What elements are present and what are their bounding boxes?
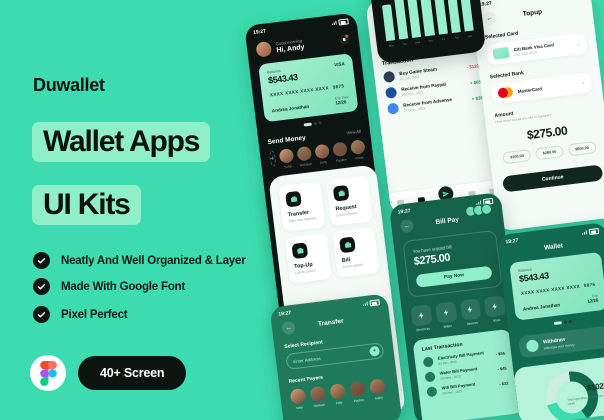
signal-icon: [363, 302, 368, 307]
avatar: [332, 141, 348, 157]
bill-category-label: Water: [438, 323, 458, 329]
screen-count-badge: 40+ Screen: [78, 356, 186, 390]
signal-icon: [331, 21, 336, 26]
card-footer: Andrea Jonathan Exp 12/26: [522, 294, 599, 312]
bill-amount: - $32: [499, 380, 509, 386]
request-icon: [333, 185, 350, 202]
card-last4: 9875: [332, 83, 344, 89]
chart-x-label: Wed: [413, 41, 422, 45]
bill-category-more[interactable]: More: [484, 295, 507, 323]
poster-canvas: MonTueWedThuFriSatSun 19:27 Good morning…: [0, 0, 604, 420]
bill-category-label: More: [487, 317, 507, 323]
dot: [564, 321, 567, 324]
chart-x-label: Sat: [452, 36, 461, 40]
mastercard-icon: [497, 87, 513, 99]
contact-item[interactable]: Sofia: [279, 148, 295, 170]
quick-amount-chip[interactable]: $100.00: [503, 149, 532, 164]
water-drop-icon: [435, 301, 457, 323]
exp-value: 12/26: [587, 298, 599, 304]
contact-name: Kelly: [316, 160, 330, 166]
bank-name: MasterCard: [517, 86, 542, 94]
battery-icon: [369, 299, 380, 306]
chevron-down-icon[interactable]: ⌄: [581, 80, 586, 86]
contact-name: Nicklash: [312, 402, 327, 408]
battery-icon: [338, 18, 349, 25]
pay-now-button[interactable]: Pay Now: [416, 266, 493, 288]
chart-bar: Sat: [447, 0, 460, 33]
dot-active: [554, 321, 562, 325]
contact-name: Kelly: [331, 400, 346, 406]
avatar: [297, 146, 313, 162]
bill-category-internet[interactable]: Internet: [460, 298, 483, 326]
card-number: XXXX XXXX XXXX XXXX 9875: [521, 282, 597, 296]
contact-name: Andre: [371, 395, 386, 401]
chart-bar: Thu: [419, 0, 434, 36]
screen-count-label: 40+ Screen: [100, 366, 164, 380]
contact-item[interactable]: Andre: [350, 139, 366, 161]
chart-x-label: Sun: [465, 34, 474, 38]
bill-icon: [339, 236, 356, 253]
phone-transfer-screen: 19:27 ← Transfer Select Recipient Enter …: [270, 293, 403, 420]
contact-name: Nicklash: [299, 162, 313, 168]
withdraw-icon: [526, 339, 539, 352]
chart-bar: Tue: [394, 0, 409, 40]
avatar: [314, 144, 330, 160]
check-icon: [33, 252, 50, 269]
bolt-icon: [410, 304, 432, 326]
avatar: [349, 381, 366, 398]
feature-label: Pixel Perfect: [61, 309, 127, 321]
water-drop-icon: [424, 371, 435, 382]
bill-amount: - $56: [495, 350, 505, 356]
topup-icon: [291, 242, 308, 259]
headline-primary-text: Wallet Apps: [43, 127, 199, 157]
avatar: [369, 378, 386, 395]
card-number: XXXX XXXX XXXX XXXX 9875: [270, 83, 348, 97]
avatar: [310, 386, 327, 403]
action-card-top-up[interactable]: Top-UpLorem ipsum: [285, 233, 332, 284]
feature-item: Neatly And Well Organized & Layer: [33, 252, 245, 269]
contact-name: Sofia: [292, 405, 307, 411]
wifi-icon: [460, 298, 482, 320]
avatar: [329, 383, 346, 400]
action-grid: TransferTake and requestRequestLorem ips…: [268, 164, 388, 284]
contact-item[interactable]: Nicklash: [297, 146, 313, 168]
contact-item[interactable]: Pauline: [349, 381, 366, 404]
chart-x-label: Tue: [400, 42, 409, 46]
action-card-transfer[interactable]: TransferTake and request: [278, 181, 325, 232]
feature-item: Made With Google Font: [33, 278, 185, 295]
balance-card[interactable]: VISA Balance $543.43 XXXX XXXX XXXX XXXX…: [258, 53, 358, 122]
contact-item[interactable]: Andre: [369, 378, 386, 401]
plus-circle-icon[interactable]: +: [369, 346, 380, 357]
contact-item[interactable]: Kelly: [329, 383, 346, 406]
bell-icon[interactable]: [338, 33, 350, 45]
card-number-masked: XXXX XXXX XXXX XXXX: [521, 284, 581, 296]
feature-label: Neatly And Well Organized & Layer: [61, 255, 245, 267]
contact-name: Pauline: [351, 398, 366, 404]
wallet-card[interactable]: Balance $543.43 XXXX XXXX XXXX XXXX 9875…: [509, 252, 604, 321]
bill-category-label: Internet: [462, 320, 482, 326]
check-icon: [33, 306, 50, 323]
feature-label: Made With Google Font: [61, 281, 185, 293]
weekly-bar-chart: MonTueWedThuFriSatSun: [366, 0, 484, 42]
continue-button[interactable]: Continue: [502, 164, 603, 192]
exp-value: 12/26: [335, 99, 349, 106]
transfer-icon: [285, 191, 302, 208]
avatar: [350, 139, 366, 155]
headline-primary: Wallet Apps: [32, 122, 210, 162]
card-last4: 9875: [584, 282, 596, 288]
card-holder: Andrea Jonathan: [272, 104, 310, 114]
poster-left-panel: Duwallet Wallet Apps UI Kits Neatly And …: [0, 0, 270, 420]
feature-item: Pixel Perfect: [33, 306, 127, 323]
wifi-icon: [426, 386, 437, 397]
address-placeholder: Enter Address: [293, 355, 321, 363]
avatar: [279, 148, 295, 164]
brand-title: Duwallet: [33, 75, 105, 96]
figma-logo-icon: [30, 355, 66, 391]
mini-card-icon: [492, 47, 509, 60]
last-transaction-list: Electricity Bill Payment03 Jan , 2023- $…: [423, 348, 509, 398]
chart-x-label: Thu: [426, 39, 435, 43]
contact-item[interactable]: Nicklash: [310, 386, 327, 409]
chevron-down-icon[interactable]: ⌄: [576, 41, 581, 47]
spending-chart-panel: $1023,22 Total spending 45% higher than …: [513, 355, 604, 420]
chart-bar: Mon: [382, 4, 395, 41]
battery-icon: [589, 228, 600, 235]
bill-category-label: Electricity: [413, 326, 433, 332]
check-icon: [33, 278, 50, 295]
action-card-request[interactable]: RequestLorem ipsum: [326, 175, 373, 226]
chart-bar: Sun: [460, 0, 474, 32]
contact-name: Andre: [352, 155, 366, 161]
quick-amount-chip[interactable]: $250.00: [535, 145, 564, 160]
withdraw-row[interactable]: Withdraw Withdraw your money: [518, 325, 604, 358]
dot: [569, 320, 572, 323]
signal-icon: [582, 230, 587, 235]
contact-item[interactable]: Sofia: [290, 388, 307, 411]
contact-item[interactable]: Pauline: [332, 141, 348, 163]
card-number-masked: XXXX XXXX XXXX XXXX: [270, 85, 330, 97]
card-footer: Andrea Jonathan Exp Date 12/26: [271, 95, 350, 113]
adsense-icon: [387, 103, 399, 115]
bill-category-water[interactable]: Water: [435, 301, 458, 329]
bill-category-electricity[interactable]: Electricity: [410, 304, 433, 332]
avatar: [290, 388, 307, 405]
headline-secondary-text: UI Kits: [43, 190, 130, 220]
contact-item[interactable]: Kelly: [314, 144, 330, 166]
contact-name: Sofia: [281, 164, 295, 170]
chart-bar: Wed: [407, 0, 421, 38]
card-holder: Andrea Jonathan: [523, 302, 561, 312]
action-card-bill[interactable]: BillLorem ipsum: [332, 227, 379, 278]
bill-amount: - $45: [497, 365, 507, 371]
bolt-icon: [423, 356, 434, 367]
chart-bar: Fri: [432, 0, 448, 35]
chart-x-label: Mon: [387, 44, 396, 48]
quick-amount-chip[interactable]: $500.00: [568, 141, 597, 156]
contact-name: Pauline: [334, 157, 348, 163]
headline-secondary: UI Kits: [32, 185, 141, 225]
chart-x-label: Fri: [439, 38, 448, 42]
grid-icon: [484, 295, 506, 317]
